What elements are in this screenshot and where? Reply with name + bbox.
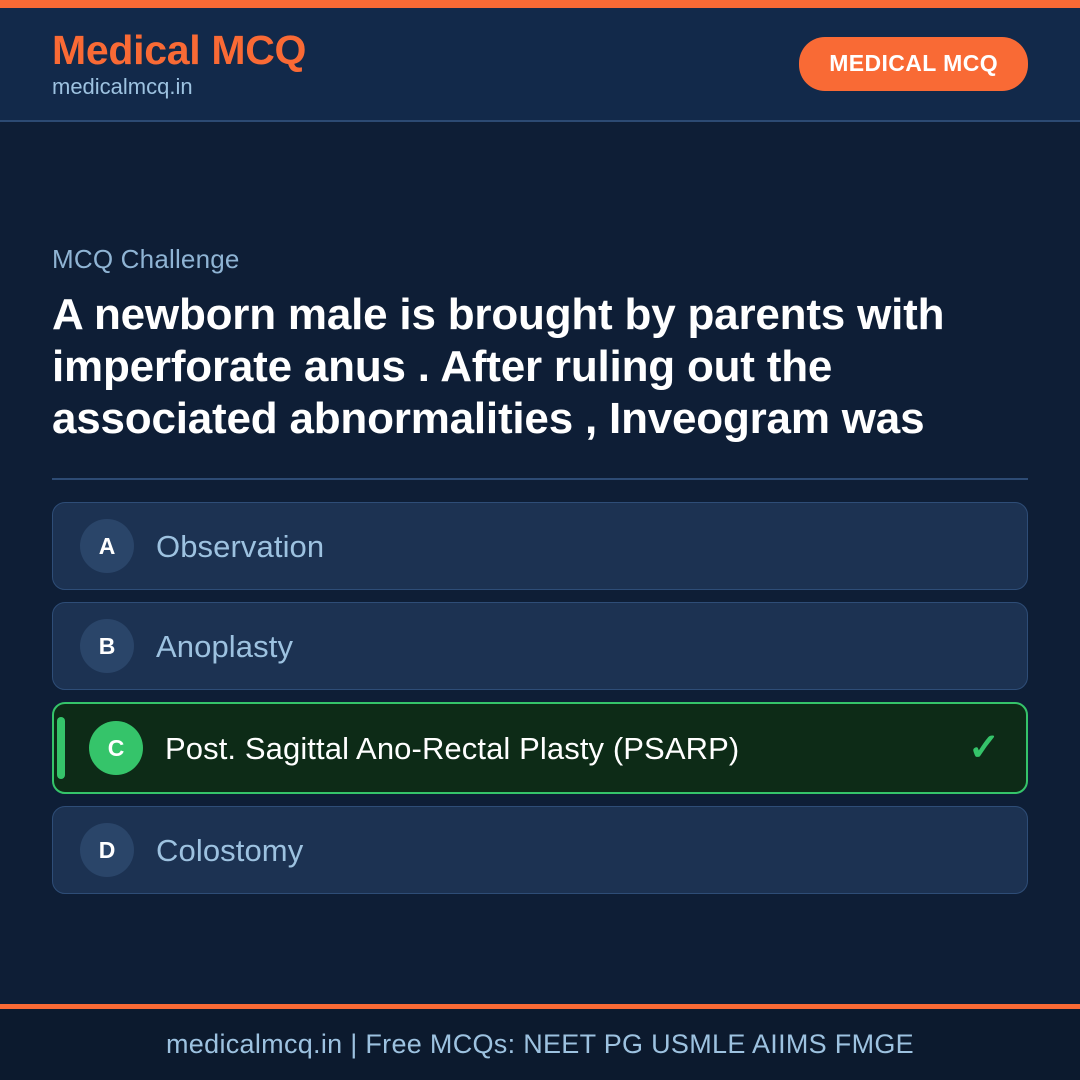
checkmark-icon: ✓: [968, 729, 1000, 767]
footer-text: medicalmcq.in | Free MCQs: NEET PG USMLE…: [166, 1029, 914, 1060]
option-b-badge: B: [80, 619, 134, 673]
header-badge[interactable]: MEDICAL MCQ: [799, 37, 1028, 91]
page-header: Medical MCQ medicalmcq.in MEDICAL MCQ: [0, 8, 1080, 122]
main-content: MCQ Challenge A newborn male is brought …: [0, 244, 1080, 894]
eyebrow-label: MCQ Challenge: [52, 244, 1028, 275]
option-a-badge: A: [80, 519, 134, 573]
option-a[interactable]: A Observation: [52, 502, 1028, 590]
option-c[interactable]: C Post. Sagittal Ano-Rectal Plasty (PSAR…: [52, 702, 1028, 794]
options-list: A Observation B Anoplasty C Post. Sagitt…: [52, 502, 1028, 894]
option-d-badge: D: [80, 823, 134, 877]
option-a-label: Observation: [156, 528, 324, 565]
brand-block: Medical MCQ medicalmcq.in: [52, 28, 306, 101]
option-b-label: Anoplasty: [156, 628, 293, 665]
brand-subtitle: medicalmcq.in: [52, 73, 306, 101]
question-text: A newborn male is brought by parents wit…: [52, 289, 1002, 445]
option-c-label: Post. Sagittal Ano-Rectal Plasty (PSARP): [165, 730, 739, 767]
top-accent-bar: [0, 0, 1080, 8]
question-divider: [52, 478, 1028, 480]
correct-accent-bar: [57, 717, 65, 779]
option-c-badge: C: [89, 721, 143, 775]
brand-title: Medical MCQ: [52, 28, 306, 72]
page-footer: medicalmcq.in | Free MCQs: NEET PG USMLE…: [0, 1004, 1080, 1080]
option-d[interactable]: D Colostomy: [52, 806, 1028, 894]
option-d-label: Colostomy: [156, 832, 303, 869]
option-b[interactable]: B Anoplasty: [52, 602, 1028, 690]
